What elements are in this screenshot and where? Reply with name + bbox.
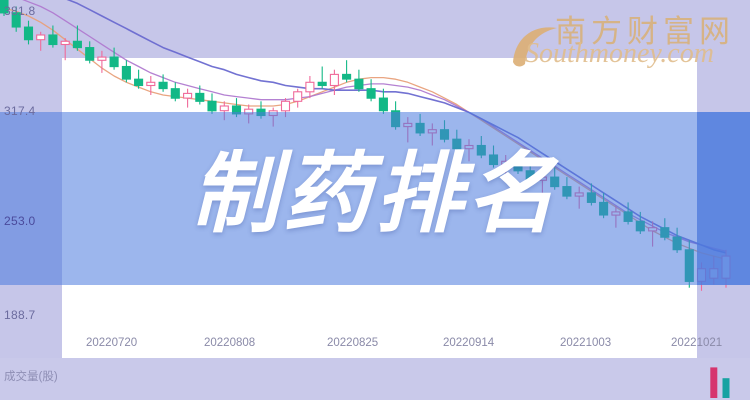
y-axis-label-3: 188.7 [4, 308, 36, 322]
x-axis-label-3: 20220914 [443, 337, 494, 349]
y-axis-label-0: 381.8 [4, 4, 36, 18]
x-axis-label-4: 20221003 [560, 337, 611, 349]
y-axis-label-1: 317.4 [4, 104, 36, 118]
chart-screenshot: 381.8 317.4 253.0 188.7 20220720 2022080… [0, 0, 750, 400]
volume-axis-label: 成交量(股) [4, 368, 58, 384]
page-title: 制药排名 [0, 146, 750, 242]
watermark-logo: 南方财富网 Southmoney.com [503, 4, 738, 76]
x-axis-label-0: 20220720 [86, 337, 137, 349]
x-axis-label-5: 20221021 [671, 337, 722, 349]
x-axis-label-2: 20220825 [327, 337, 378, 349]
x-axis-label-1: 20220808 [204, 337, 255, 349]
watermark-brand-en: Southmoney.com [525, 38, 714, 70]
